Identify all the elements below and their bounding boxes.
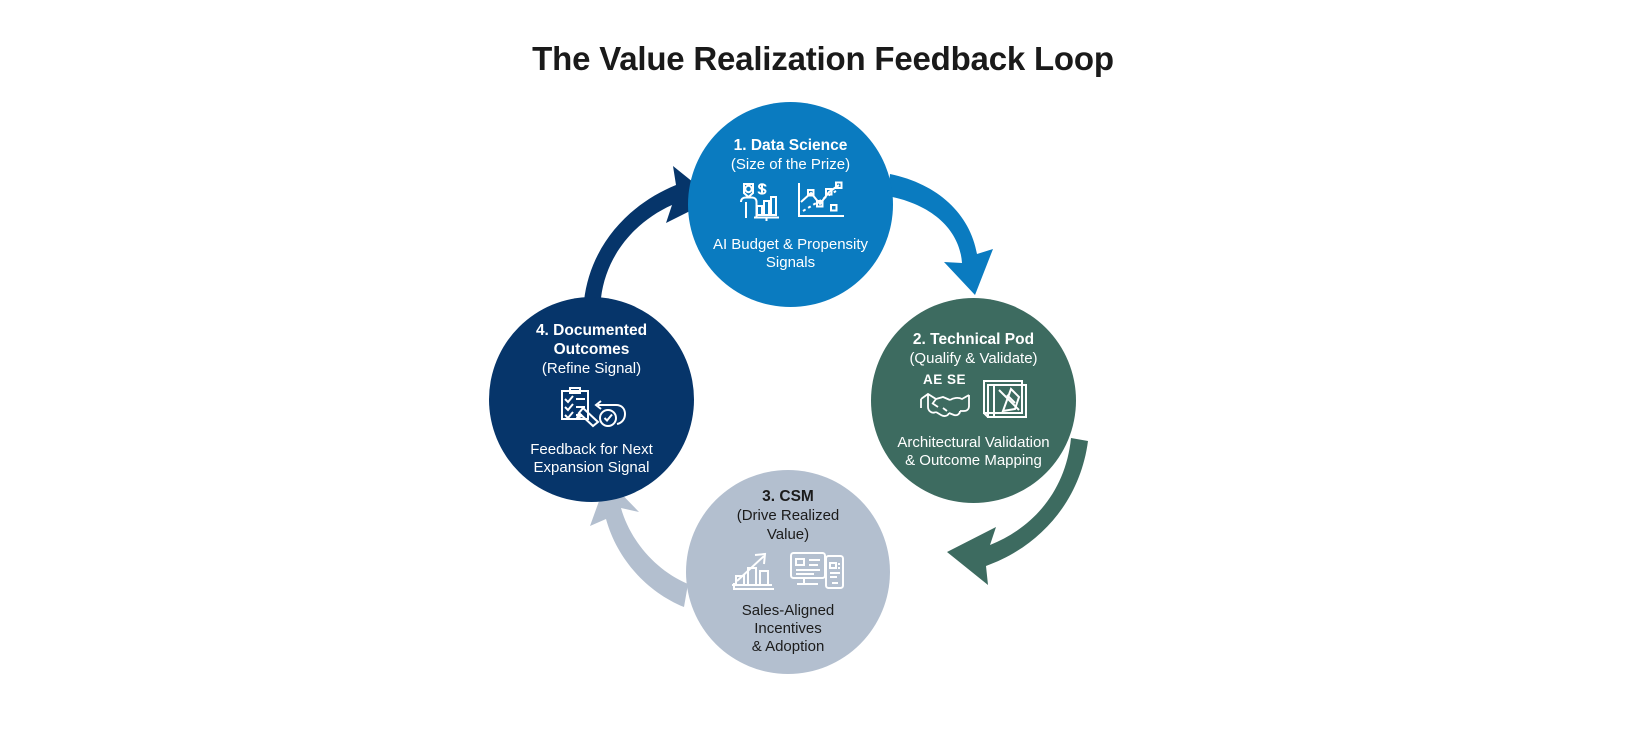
node-data-science-icons: [735, 180, 847, 227]
node-technical-pod[interactable]: 2. Technical Pod (Qualify & Validate) AE…: [871, 298, 1076, 503]
node-documented-outcomes-desc-line-1: Feedback for Next: [530, 441, 653, 459]
handshake-icon: [919, 387, 971, 426]
growth-bar-chart-arrow-icon: [730, 549, 778, 596]
node-csm-subtitle-line-2: Value): [767, 526, 809, 544]
node-technical-pod-desc-line-2: & Outcome Mapping: [905, 452, 1042, 470]
node-data-science-title: 1. Data Science: [734, 137, 848, 155]
line-scatter-chart-icon: [795, 180, 847, 227]
node-technical-pod-subtitle: (Qualify & Validate): [909, 350, 1037, 368]
node-documented-outcomes-title-line-1: 4. Documented: [536, 322, 647, 340]
monitor-mobile-dashboard-icon: [788, 549, 846, 596]
node-technical-pod-icon-label: AE SE: [923, 372, 966, 387]
node-csm-desc-line-1: Sales-Aligned: [742, 602, 835, 620]
blueprint-ruler-pencil-icon: [981, 377, 1029, 426]
node-technical-pod-icons: AE SE: [919, 372, 1029, 426]
node-data-science-desc-line-2: Signals: [766, 254, 815, 272]
node-data-science-desc-line-1: AI Budget & Propensity: [713, 236, 868, 254]
node-technical-pod-desc-line-1: Architectural Validation: [897, 434, 1049, 452]
node-documented-outcomes-title-line-2: Outcomes: [554, 341, 630, 359]
node-csm-subtitle-line-1: (Drive Realized: [737, 507, 840, 525]
node-csm-icons: [730, 549, 846, 596]
node-documented-outcomes[interactable]: 4. Documented Outcomes (Refine Signal): [489, 297, 694, 502]
arrow-1-to-2: [888, 174, 993, 295]
node-data-science-subtitle: (Size of the Prize): [731, 156, 850, 174]
node-documented-outcomes-subtitle: (Refine Signal): [542, 360, 641, 378]
clipboard-checklist-pencil-refresh-icon: [554, 384, 630, 433]
node-documented-outcomes-desc-line-2: Expansion Signal: [534, 459, 650, 477]
person-dollar-bar-chart-icon: [735, 180, 785, 227]
diagram-canvas: The Value Realization Feedback Loop 1. D…: [0, 0, 1646, 729]
node-csm-desc-line-2: Incentives: [754, 620, 822, 638]
node-csm-desc-line-3: & Adoption: [752, 638, 825, 656]
node-data-science[interactable]: 1. Data Science (Size of the Prize): [688, 102, 893, 307]
node-documented-outcomes-icons: [554, 384, 630, 433]
node-csm[interactable]: 3. CSM (Drive Realized Value): [686, 470, 890, 674]
node-csm-title: 3. CSM: [762, 488, 814, 506]
node-technical-pod-title: 2. Technical Pod: [913, 331, 1034, 349]
